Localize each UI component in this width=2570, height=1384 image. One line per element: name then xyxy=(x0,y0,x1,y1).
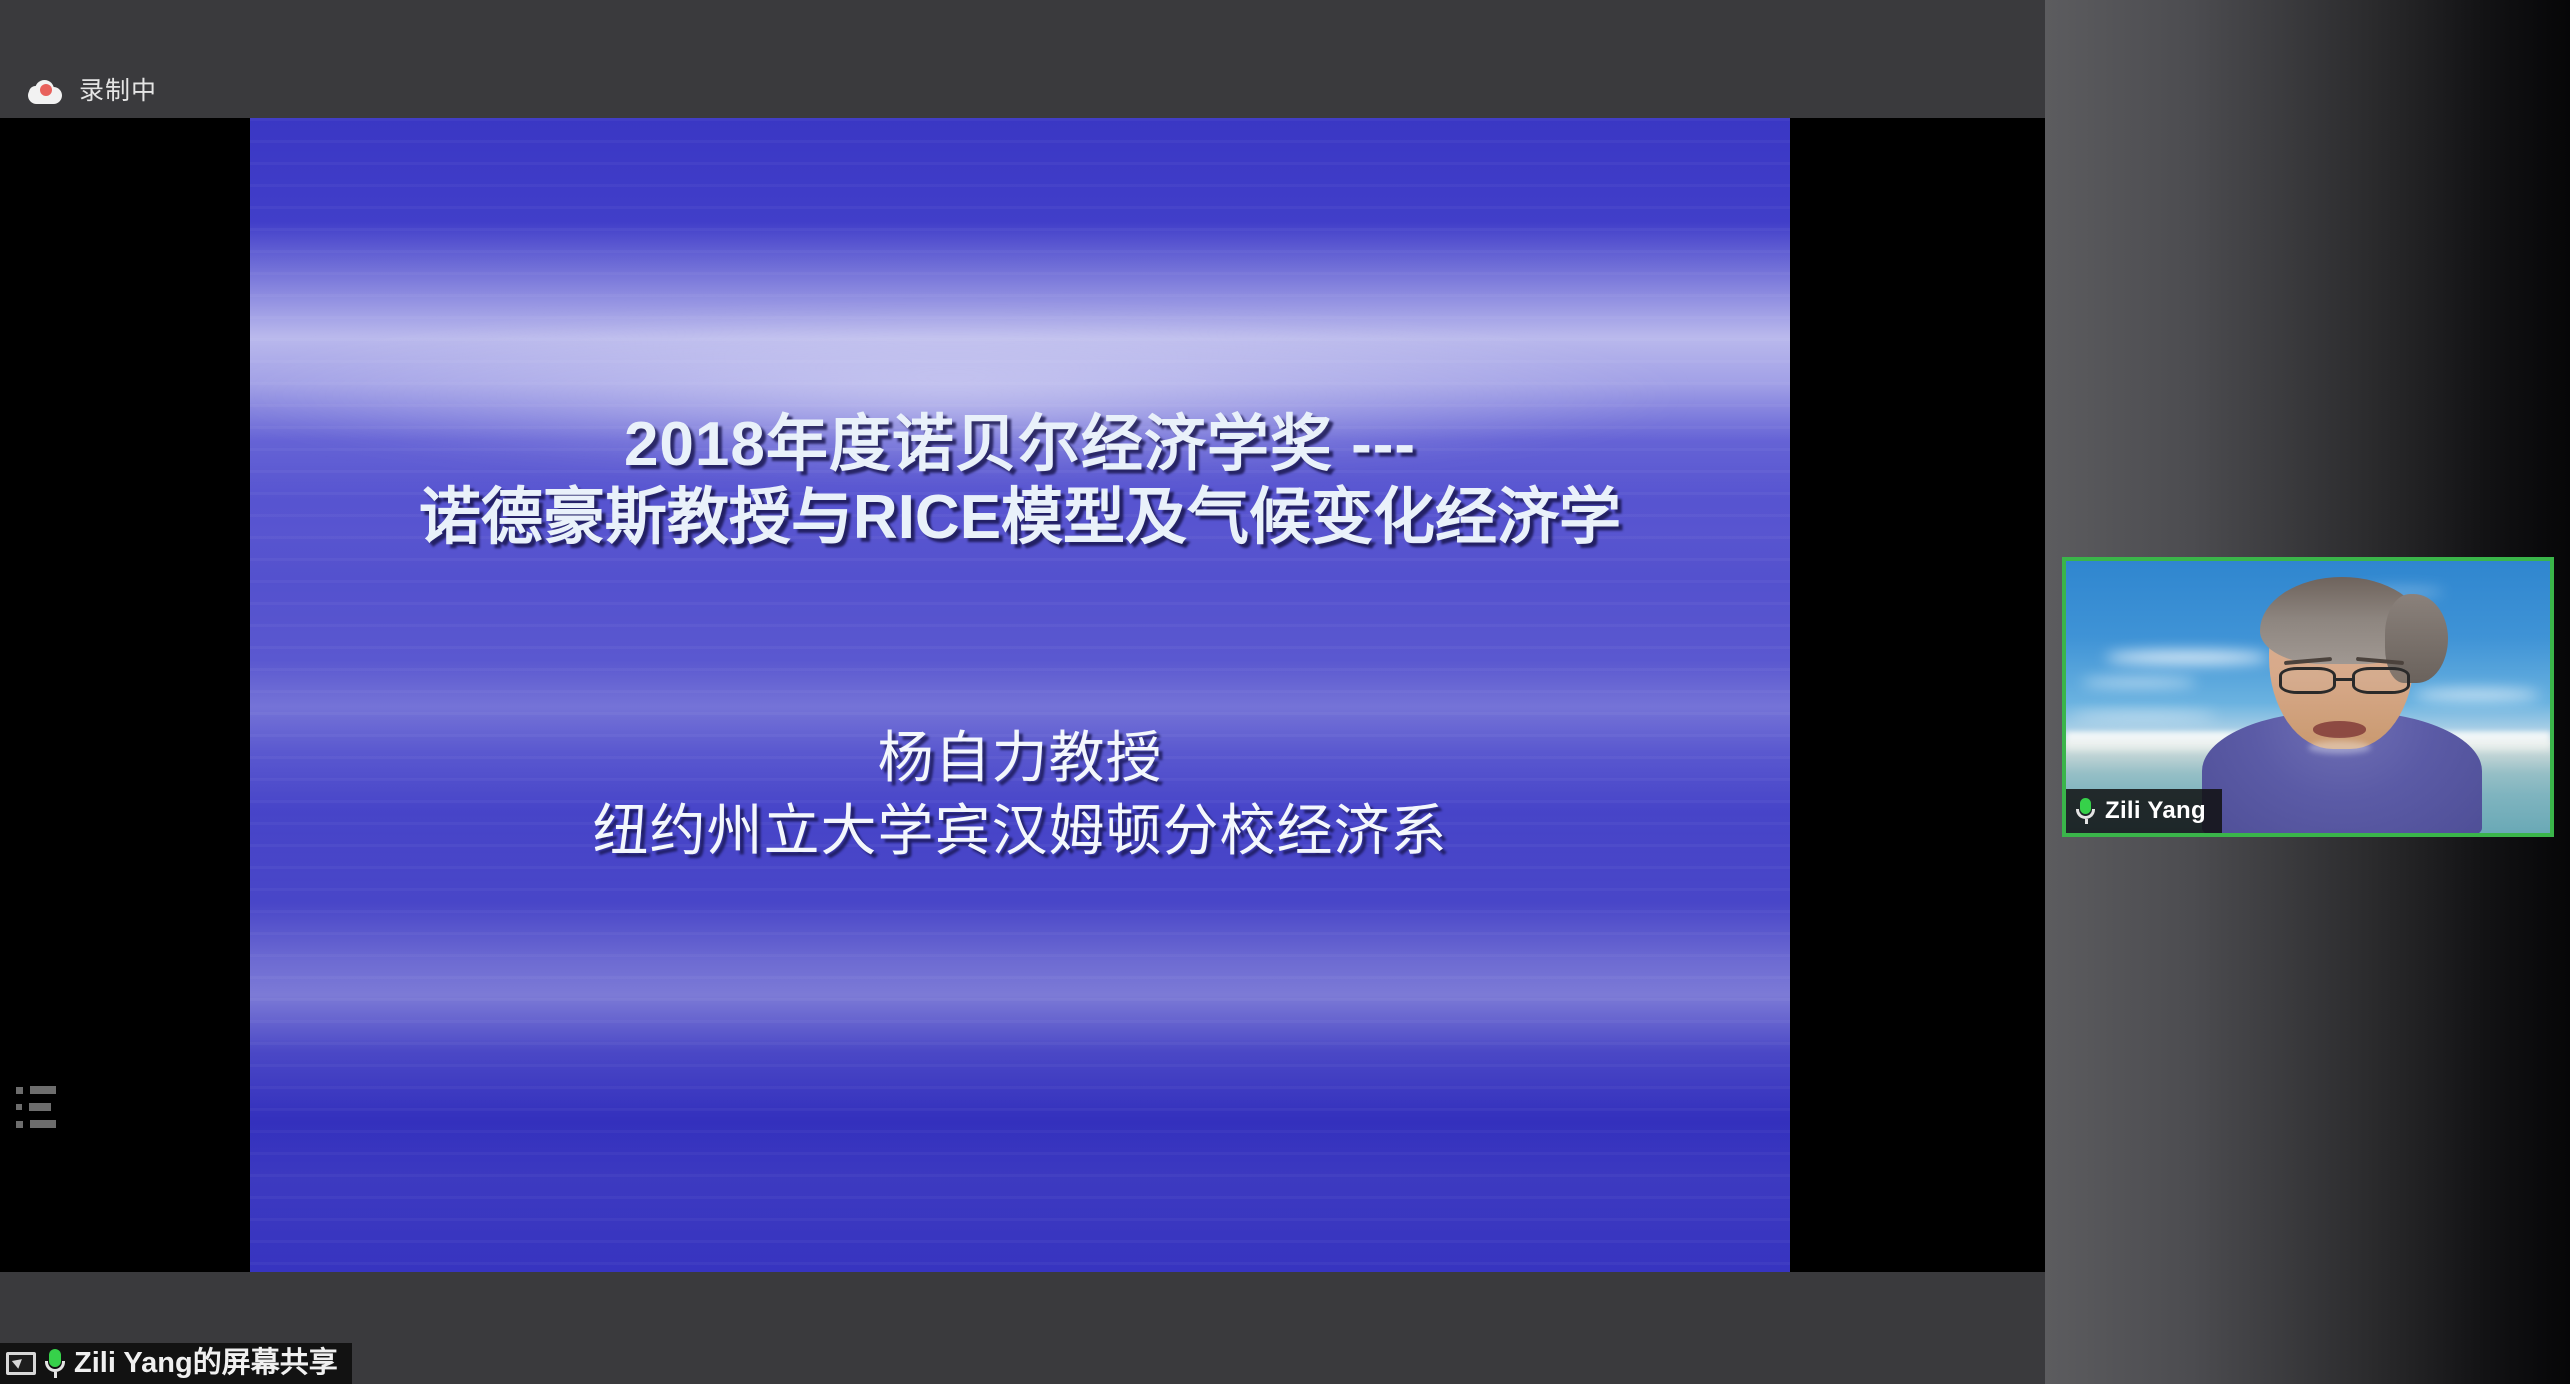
slide-title: 2018年度诺贝尔经济学奖 --- 诺德豪斯教授与RICE模型及气候变化经济学 xyxy=(419,408,1621,554)
slide-subtitle-line-2: 纽约州立大学宾汉姆顿分校经济系 xyxy=(593,795,1448,868)
bottom-status-bar: Zili Yang的屏幕共享 xyxy=(0,1272,2045,1384)
recording-indicator: 录制中 xyxy=(28,78,157,104)
top-recording-bar: 录制中 xyxy=(0,0,2045,118)
zoom-meeting-window: 录制中 2018年度诺贝尔经济学奖 --- 诺德豪斯教授与RICE模型及气候变化… xyxy=(0,0,2570,1384)
screen-share-icon xyxy=(6,1352,36,1375)
participant-name-label: Zili Yang xyxy=(2105,799,2206,823)
slide-title-line-2: 诺德豪斯教授与RICE模型及气候变化经济学 xyxy=(419,481,1621,554)
cloud-recording-icon xyxy=(28,78,62,104)
slide-subtitle-line-1: 杨自力教授 xyxy=(593,722,1448,795)
participant-name-badge: Zili Yang xyxy=(2066,789,2222,833)
bulleted-list-icon[interactable] xyxy=(8,1082,56,1132)
slide-subtitle: 杨自力教授 纽约州立大学宾汉姆顿分校经济系 xyxy=(593,722,1448,868)
microphone-unmuted-icon xyxy=(44,1349,66,1379)
participant-video-tile[interactable]: Zili Yang xyxy=(2062,557,2554,837)
screen-share-label: Zili Yang的屏幕共享 xyxy=(74,1349,338,1378)
presentation-slide: 2018年度诺贝尔经济学奖 --- 诺德豪斯教授与RICE模型及气候变化经济学 … xyxy=(250,118,1790,1272)
microphone-unmuted-icon xyxy=(2076,798,2096,825)
recording-label: 录制中 xyxy=(79,79,157,104)
slide-title-line-1: 2018年度诺贝尔经济学奖 --- xyxy=(419,408,1621,481)
screen-share-status-badge: Zili Yang的屏幕共享 xyxy=(0,1343,352,1384)
